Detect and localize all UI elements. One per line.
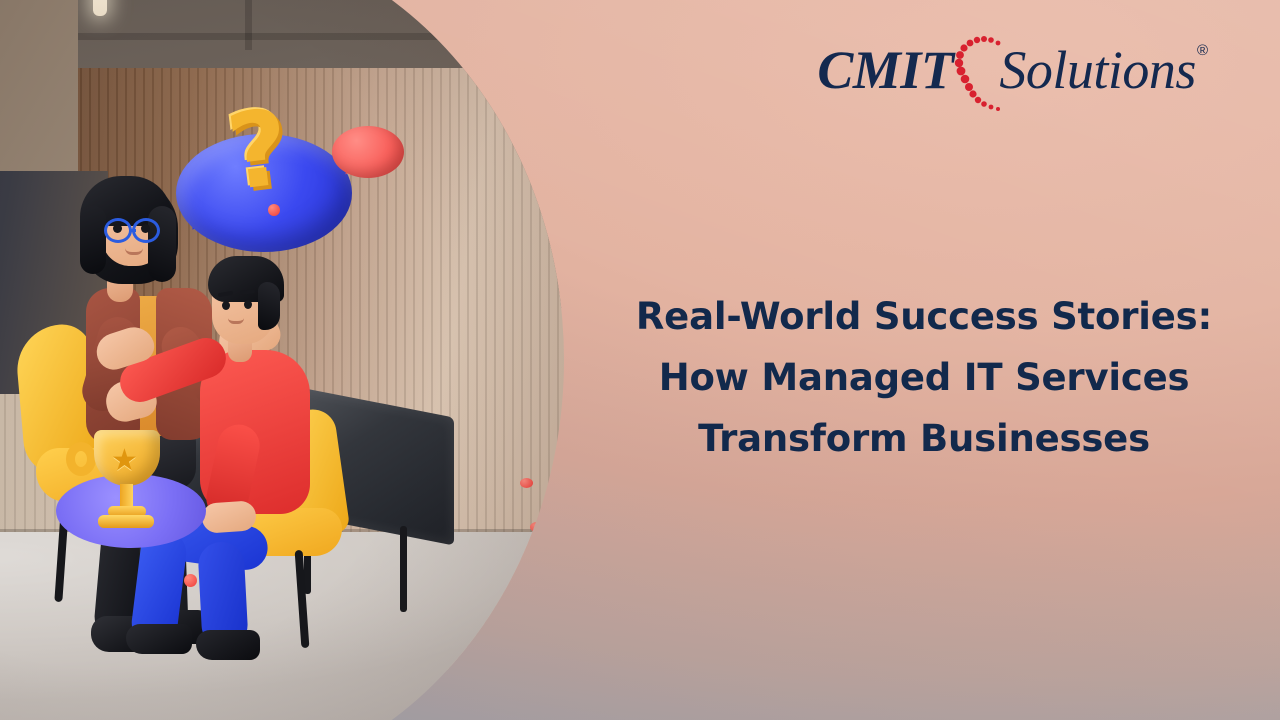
question-mark-icon: ? bbox=[222, 95, 295, 206]
trophy-stem bbox=[120, 484, 133, 508]
man-hair-side bbox=[258, 282, 280, 330]
woman-hair-side bbox=[80, 206, 106, 274]
red-accent-dot bbox=[184, 574, 197, 587]
headline-line-2: How Managed IT Services bbox=[600, 347, 1248, 408]
headline-line-3: Transform Businesses bbox=[600, 408, 1248, 469]
man-hand-lower bbox=[201, 500, 257, 534]
floor-highlight bbox=[0, 532, 564, 720]
woman-eye bbox=[113, 224, 122, 233]
trophy-base-lower bbox=[98, 515, 154, 528]
registered-trademark-icon: ® bbox=[1197, 40, 1208, 62]
woman-eye bbox=[141, 224, 150, 233]
illustration-scene: ★ ? bbox=[0, 0, 564, 720]
man-shoe bbox=[196, 630, 260, 660]
logo-word-cmit: CMIT bbox=[817, 40, 953, 100]
cmit-solutions-logo[interactable]: CMIT Solutions ® bbox=[817, 40, 1208, 104]
woman-hair-side bbox=[148, 206, 176, 282]
red-speech-bubble bbox=[332, 126, 404, 178]
star-icon: ★ bbox=[111, 446, 138, 476]
red-accent-dot bbox=[530, 522, 543, 532]
red-accent-dot bbox=[520, 478, 533, 488]
man-eye bbox=[244, 300, 252, 309]
page-title: Real-World Success Stories: How Managed … bbox=[600, 286, 1248, 469]
office-conversation-illustration: ★ ? bbox=[0, 0, 564, 720]
ceiling-beam bbox=[245, 0, 252, 50]
logo-word-solutions: Solutions bbox=[999, 40, 1196, 100]
headline-line-1: Real-World Success Stories: bbox=[600, 286, 1248, 347]
dotted-swoosh-icon bbox=[953, 40, 1005, 104]
trophy-handle-left bbox=[66, 442, 96, 476]
red-accent-dot bbox=[268, 204, 280, 216]
ceiling-light-tube bbox=[93, 0, 107, 16]
man-eye bbox=[222, 301, 230, 310]
glasses-bridge bbox=[130, 229, 136, 232]
ceiling-beam bbox=[0, 33, 564, 40]
man-shoe bbox=[126, 624, 192, 654]
chair-leg bbox=[400, 526, 407, 612]
